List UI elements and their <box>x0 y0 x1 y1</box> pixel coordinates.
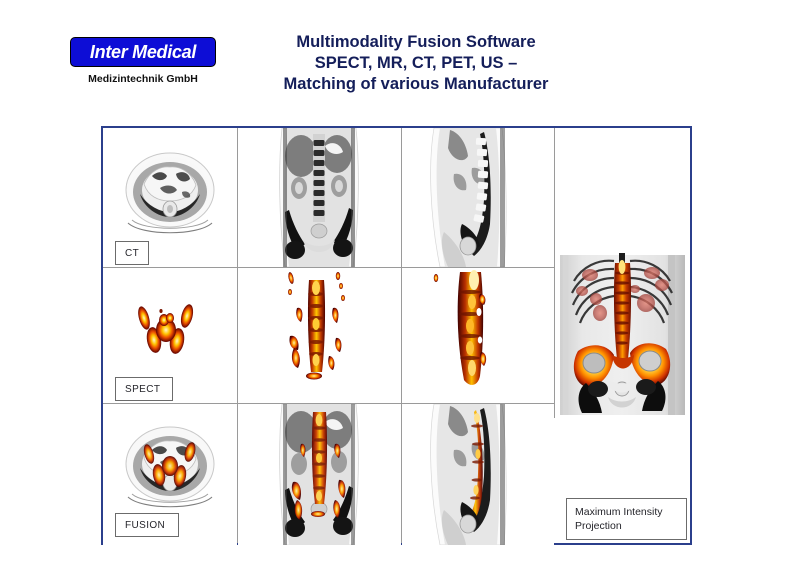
image-grid-panel: CT SPECT FUSION Maximum Intensity Projec… <box>101 126 692 545</box>
image-fusion-coronal[interactable] <box>238 404 401 545</box>
label-maximum-intensity-projection: Maximum Intensity Projection <box>566 498 687 540</box>
image-spect-coronal[interactable] <box>238 268 401 403</box>
logo-subtitle: Medizintechnik GmbH <box>70 73 216 85</box>
image-fusion-sagittal[interactable] <box>402 404 554 545</box>
title-line-1: Multimodality Fusion Software <box>236 32 596 53</box>
page-title: Multimodality Fusion Software SPECT, MR,… <box>236 32 596 95</box>
image-ct-sagittal[interactable] <box>402 128 554 267</box>
label-fusion: FUSION <box>115 513 179 537</box>
image-spect-sagittal[interactable] <box>402 268 554 403</box>
image-ct-coronal[interactable] <box>238 128 401 267</box>
mip-caption-line-2: Projection <box>575 519 678 533</box>
brand-logo: Inter Medical Medizintechnik GmbH <box>70 37 216 85</box>
image-mip-coronal[interactable] <box>555 128 690 543</box>
mip-caption-line-1: Maximum Intensity <box>575 505 678 519</box>
title-line-3: Matching of various Manufacturer <box>236 74 596 95</box>
label-ct: CT <box>115 241 149 265</box>
logo-brand-text: Inter Medical <box>90 43 196 61</box>
label-spect: SPECT <box>115 377 173 401</box>
logo-badge: Inter Medical <box>70 37 216 67</box>
title-line-2: SPECT, MR, CT, PET, US – <box>236 53 596 74</box>
